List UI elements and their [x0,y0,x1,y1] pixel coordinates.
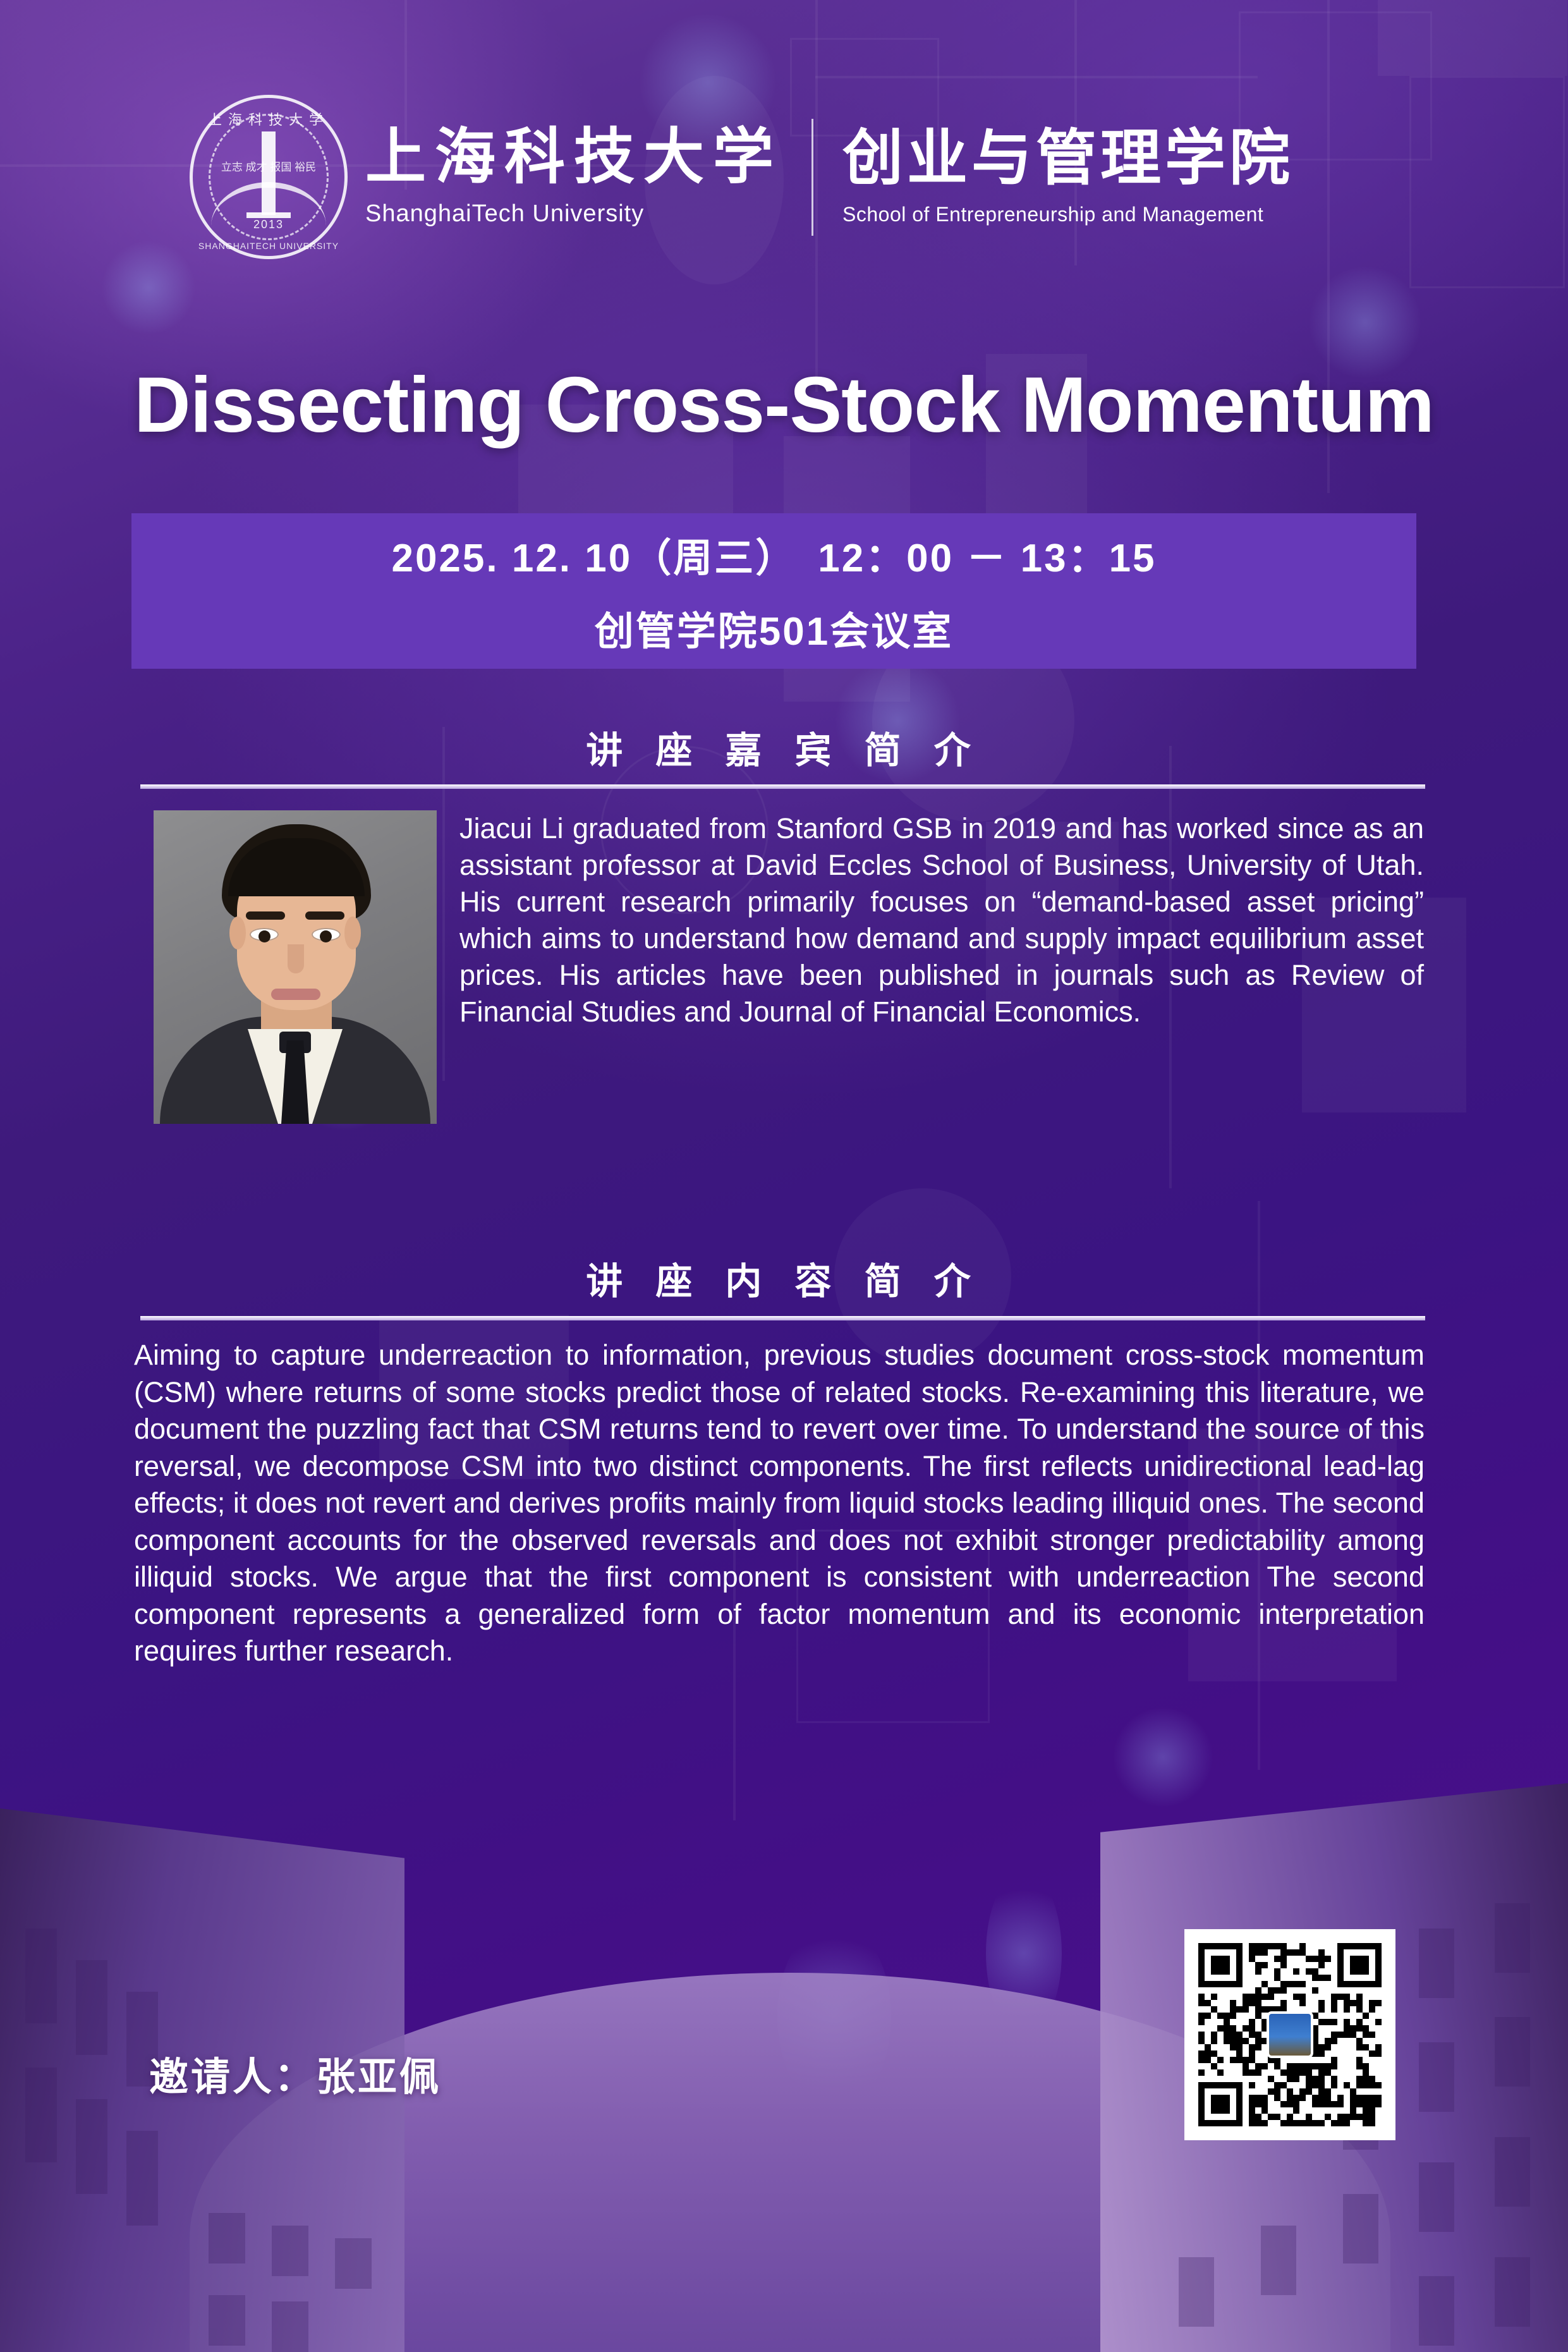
brand-header: 上海科技大学 立志 成才 报国 裕民 2013 SHANGHAITECH UNI… [190,95,1294,259]
speaker-bio: Jiacui Li graduated from Stanford GSB in… [459,810,1424,1030]
speaker-section-rule [140,784,1425,789]
inviter-label: 邀请人：张亚佩 [149,2045,441,2102]
school-name-en: School of Entrepreneurship and Managemen… [842,203,1294,226]
university-name-cn: 上海科技大学 [365,127,782,188]
event-venue: 创管学院501会议室 [595,599,953,656]
school-name-cn: 创业与管理学院 [842,128,1294,189]
speaker-block: Jiacui Li graduated from Stanford GSB in… [154,810,1424,1124]
seal-year: 2013 [190,218,348,231]
event-info-banner: 2025. 12. 10（周三） 12：00 － 13：15 创管学院501会议… [131,513,1416,669]
header-divider [811,119,813,236]
poster-root: 上海科技大学 立志 成才 报国 裕民 2013 SHANGHAITECH UNI… [0,0,1568,2352]
speaker-photo [154,810,437,1124]
university-name-en: ShanghaiTech University [365,200,782,228]
qr-code[interactable] [1184,1929,1395,2140]
university-seal-icon: 上海科技大学 立志 成才 报国 裕民 2013 SHANGHAITECH UNI… [190,95,348,259]
abstract-text: Aiming to capture underreaction to infor… [134,1337,1425,1670]
seal-cn-top: 上海科技大学 [190,109,348,129]
qr-center-logo-icon [1267,2011,1313,2058]
content-section-heading: 讲 座 内 容 简 介 [0,1252,1568,1305]
content-section-rule [140,1316,1425,1320]
event-datetime: 2025. 12. 10（周三） 12：00 － 13：15 [391,526,1156,583]
seal-en-ring: SHANGHAITECH UNIVERSITY [190,241,348,251]
speaker-section-heading: 讲 座 嘉 宾 简 介 [0,721,1568,774]
page-title: Dissecting Cross-Stock Momentum [0,360,1568,450]
